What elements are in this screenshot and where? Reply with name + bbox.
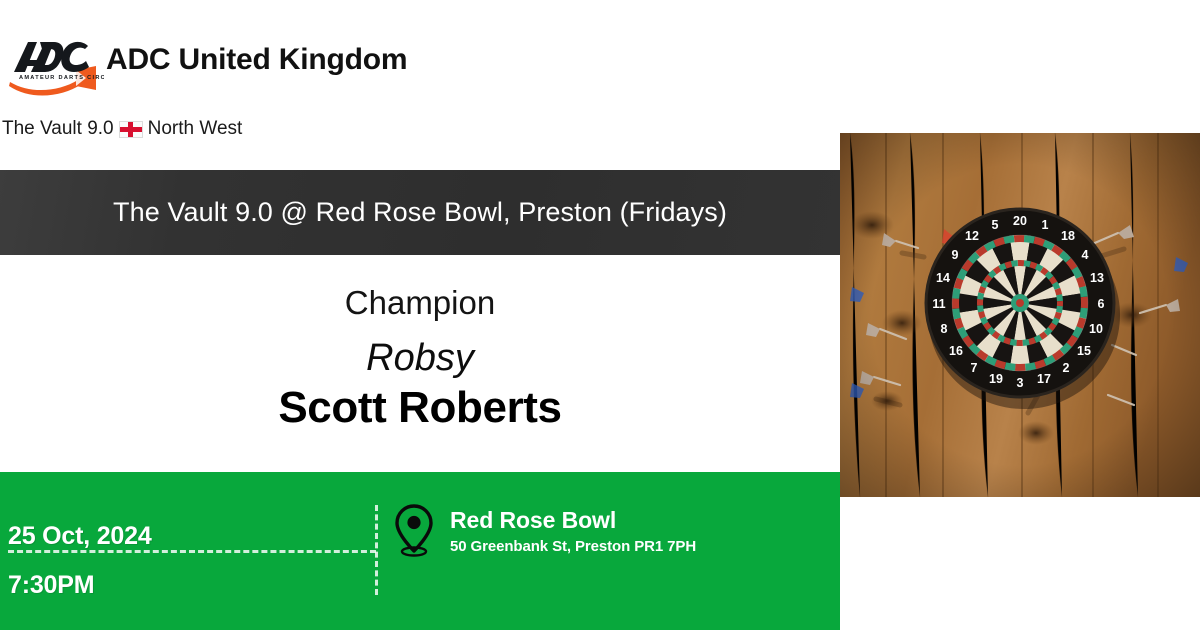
event-title-banner: The Vault 9.0 @ Red Rose Bowl, Preston (…: [0, 170, 840, 255]
left-content-column: AMATEUR DARTS CIRCUIT ADC United Kingdom…: [0, 0, 840, 630]
event-poster: AMATEUR DARTS CIRCUIT ADC United Kingdom…: [0, 0, 1200, 630]
champion-nickname: Robsy: [0, 321, 840, 380]
dartboard-photo: 20 1 18 4 13 6 10 15 2 17 3 19 7 16: [840, 133, 1200, 497]
event-date: 25 Oct, 2024: [8, 522, 152, 551]
champion-section: Champion Robsy Scott Roberts: [0, 255, 840, 472]
poster-header: AMATEUR DARTS CIRCUIT ADC United Kingdom…: [0, 0, 840, 170]
event-title: The Vault 9.0 @ Red Rose Bowl, Preston (…: [95, 197, 745, 228]
right-photo-column: 20 1 18 4 13 6 10 15 2 17 3 19 7 16: [840, 0, 1200, 630]
venue-name: Red Rose Bowl: [450, 507, 696, 533]
subtitle-league-label: The Vault 9.0: [2, 118, 114, 140]
england-flag-icon: [119, 121, 143, 138]
champion-label: Champion: [0, 255, 840, 321]
champion-full-name: Scott Roberts: [0, 380, 840, 434]
brand-title: ADC United Kingdom: [106, 43, 407, 77]
venue-group: Red Rose Bowl 50 Greenbank St, Preston P…: [392, 503, 696, 559]
map-pin-icon: [392, 503, 436, 559]
event-time: 7:30PM: [8, 571, 94, 600]
venue-address: 50 Greenbank St, Preston PR1 7PH: [450, 538, 696, 555]
subtitle-region-label: North West: [148, 118, 243, 140]
svg-text:AMATEUR DARTS CIRCUIT: AMATEUR DARTS CIRCUIT: [19, 75, 104, 81]
brand-row: AMATEUR DARTS CIRCUIT ADC United Kingdom: [0, 14, 407, 106]
header-subtitle: The Vault 9.0 North West: [2, 118, 242, 140]
venue-text-block: Red Rose Bowl 50 Greenbank St, Preston P…: [450, 507, 696, 555]
adc-logo-icon: AMATEUR DARTS CIRCUIT: [4, 20, 104, 100]
vertical-dashed-divider: [375, 505, 378, 595]
